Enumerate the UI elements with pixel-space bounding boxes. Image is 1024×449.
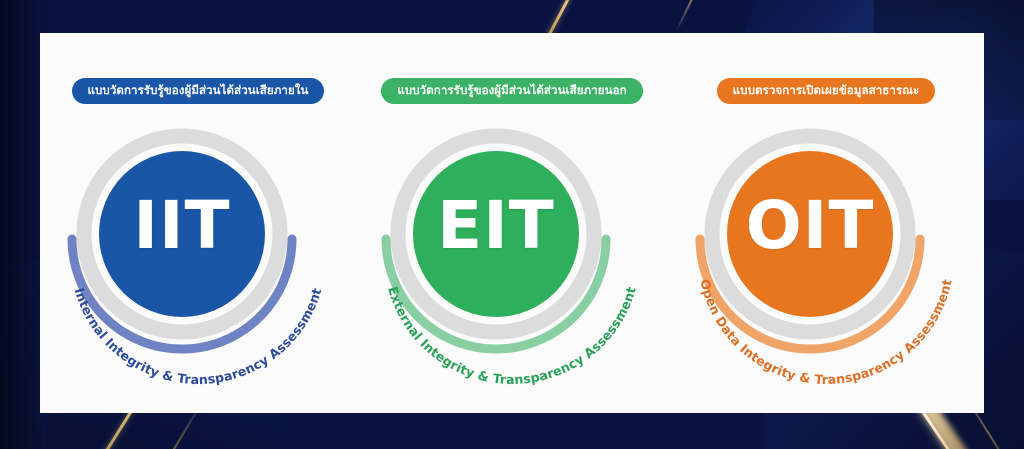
core-circle-iit	[99, 151, 265, 317]
badge-label-iit: แบบวัดการรับรู้ของผู้มีส่วนได้ส่วนเสียภา…	[72, 78, 325, 104]
slide-background: แบบวัดการรับรู้ของผู้มีส่วนได้ส่วนเสียภา…	[0, 0, 1024, 449]
emblem-graphic-eit: External Integrity & Transparency Assess…	[362, 106, 662, 406]
badge-label-oit: แบบตรวจการเปิดเผยข้อมูลสาธารณะ	[717, 78, 936, 104]
assessment-card-eit[interactable]: แบบวัดการรับรู้ของผู้มีส่วนได้ส่วนเสียภา…	[355, 33, 669, 413]
gold-streak-top-secondary	[675, 0, 707, 33]
core-circle-eit	[413, 151, 579, 317]
emblem-graphic-iit: Internal Integrity & Transparency Assess…	[48, 106, 348, 406]
core-circle-oit	[727, 151, 893, 317]
emblem-oit: Open Data Integrity & Transparency Asses…	[676, 106, 976, 406]
badge-label-eit: แบบวัดการรับรู้ของผู้มีส่วนได้ส่วนเสียภา…	[381, 78, 642, 104]
emblem-eit: External Integrity & Transparency Assess…	[362, 106, 662, 406]
emblem-iit: Internal Integrity & Transparency Assess…	[48, 106, 348, 406]
assessment-card-list: แบบวัดการรับรู้ของผู้มีส่วนได้ส่วนเสียภา…	[40, 33, 984, 413]
content-panel: แบบวัดการรับรู้ของผู้มีส่วนได้ส่วนเสียภา…	[40, 33, 984, 413]
emblem-graphic-oit: Open Data Integrity & Transparency Asses…	[676, 106, 976, 406]
assessment-card-oit[interactable]: แบบตรวจการเปิดเผยข้อมูลสาธารณะ Open Data…	[669, 33, 983, 413]
assessment-card-iit[interactable]: แบบวัดการรับรู้ของผู้มีส่วนได้ส่วนเสียภา…	[41, 33, 355, 413]
